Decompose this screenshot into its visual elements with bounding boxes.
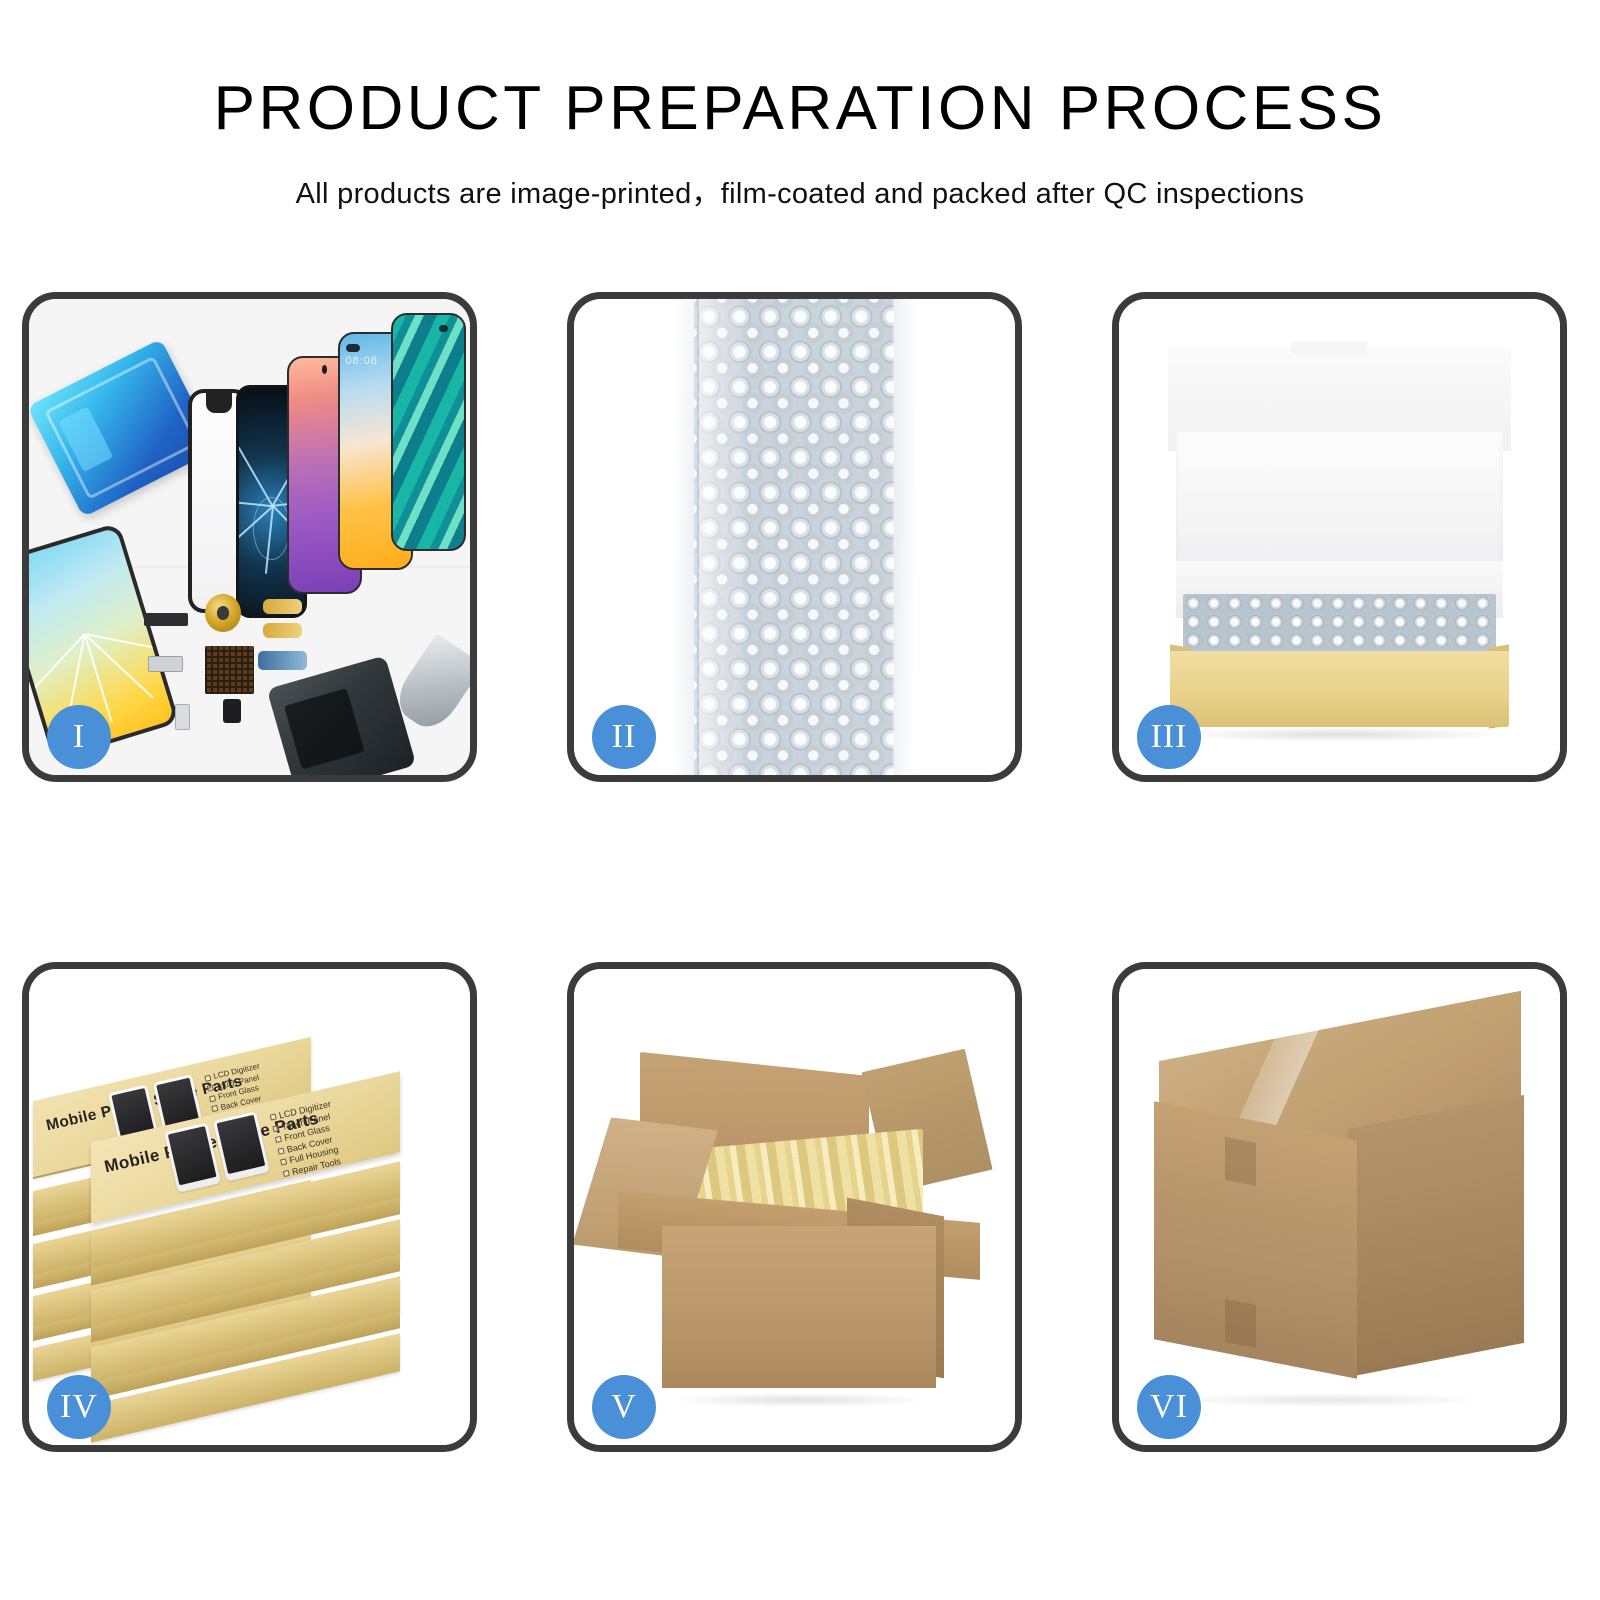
checkbox-icon xyxy=(209,1094,216,1101)
carton-seam-mark xyxy=(1225,1299,1256,1348)
step-panel-1: 08:08 I xyxy=(22,292,477,782)
checkbox-icon xyxy=(270,1113,277,1120)
header: PRODUCT PREPARATION PROCESS All products… xyxy=(0,0,1600,212)
checkbox-icon xyxy=(211,1104,218,1111)
step-badge-1: I xyxy=(47,705,111,769)
checkbox-icon xyxy=(204,1074,211,1081)
process-step-grid: 08:08 I II xyxy=(22,292,1578,1452)
step-image-1: 08:08 xyxy=(29,299,470,775)
battery-component-graphic xyxy=(148,656,183,672)
wireless-coil-component-graphic xyxy=(205,594,240,632)
checkbox-icon xyxy=(283,1169,290,1176)
phone-clock-label: 08:08 xyxy=(345,355,378,367)
drop-shadow xyxy=(1172,1393,1481,1407)
flex-cable-component-graphic xyxy=(258,651,307,670)
step-image-4: Mobile Phone Spare Parts LCD Digitizer T… xyxy=(29,969,470,1445)
ic-chip-component-graphic xyxy=(205,646,254,694)
step-panel-6: VI xyxy=(1112,962,1567,1452)
step-image-2 xyxy=(574,299,1015,775)
page-subtitle: All products are image-printed，film-coat… xyxy=(0,170,1600,212)
sim-tray-graphic xyxy=(175,704,190,730)
sealed-carton-side xyxy=(1348,1095,1524,1377)
drop-shadow xyxy=(671,1393,927,1407)
camera-module-graphic xyxy=(223,699,241,723)
step-panel-5: V xyxy=(567,962,1022,1452)
step-image-5 xyxy=(574,969,1015,1445)
carton-seam-mark xyxy=(1225,1137,1256,1186)
speaker-component-graphic xyxy=(144,613,188,625)
flex-cable-component-graphic xyxy=(263,623,303,638)
checkbox-icon xyxy=(277,1147,284,1154)
bubble-wrapped-product-graphic xyxy=(1183,594,1496,656)
carton-front-panel xyxy=(662,1226,935,1388)
bubble-wrap-sleeve-graphic xyxy=(675,299,913,775)
retail-box-stack-graphic: Mobile Phone Spare Parts LCD Digitizer T… xyxy=(29,969,470,1445)
step-image-6 xyxy=(1119,969,1560,1445)
plastic-gloss-highlight xyxy=(699,299,751,775)
step-badge-4: IV xyxy=(47,1375,111,1439)
sleeve-seal-left xyxy=(675,299,697,775)
page-title: PRODUCT PREPARATION PROCESS xyxy=(0,78,1600,140)
sleeve-seal-right xyxy=(892,299,914,775)
teal-display-graphic xyxy=(391,313,466,551)
checkbox-icon xyxy=(272,1124,279,1131)
checkbox-icon xyxy=(280,1158,287,1165)
box-yellow-tray-graphic xyxy=(1170,651,1510,727)
step-panel-2: II xyxy=(567,292,1022,782)
step-badge-6: VI xyxy=(1137,1375,1201,1439)
step-panel-3: III xyxy=(1112,292,1567,782)
drop-shadow xyxy=(1172,727,1507,741)
step-badge-2: II xyxy=(592,705,656,769)
step-badge-5: V xyxy=(592,1375,656,1439)
step-image-3 xyxy=(1119,299,1560,775)
step-badge-3: III xyxy=(1137,705,1201,769)
step-panel-4: Mobile Phone Spare Parts LCD Digitizer T… xyxy=(22,962,477,1452)
checkbox-icon xyxy=(275,1136,282,1143)
checkbox-icon xyxy=(206,1084,213,1091)
flex-cable-component-graphic xyxy=(263,599,303,614)
